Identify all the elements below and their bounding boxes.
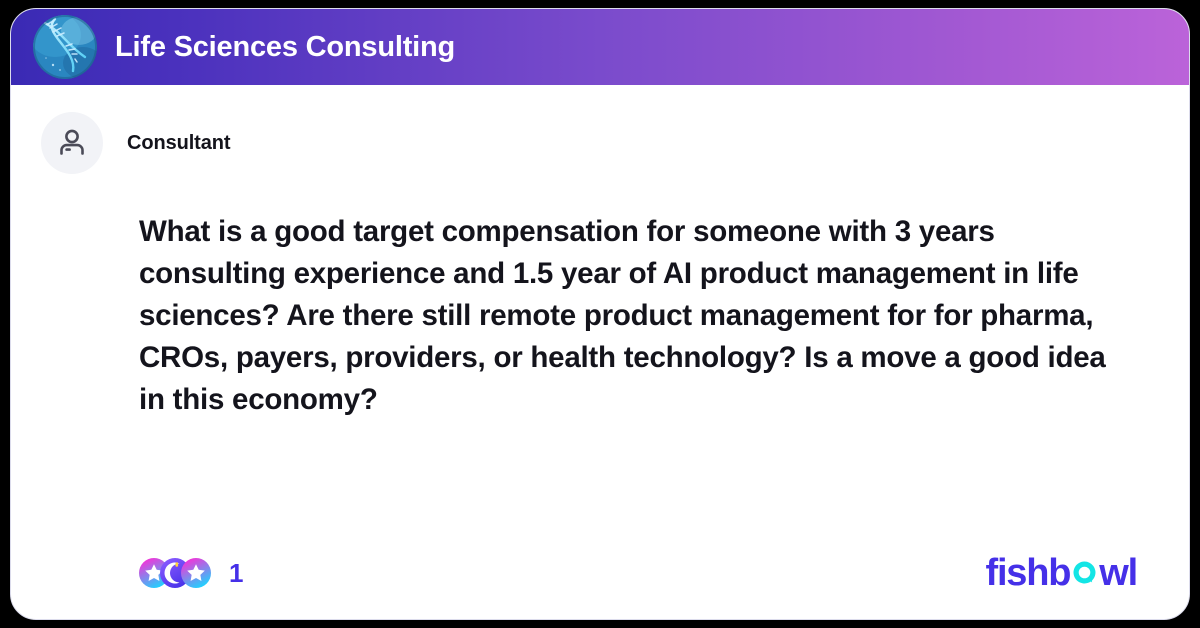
speech-bubble-o-icon — [1071, 559, 1098, 586]
brand-text-part1: fishb — [986, 552, 1071, 595]
author-row: Consultant — [41, 111, 1149, 175]
person-icon — [55, 126, 89, 160]
reaction-count: 1 — [229, 558, 243, 589]
card-header: Life Sciences Consulting — [11, 9, 1189, 85]
fishbowl-brand-logo: fishb wl — [986, 552, 1138, 595]
author-title: Consultant — [127, 132, 230, 155]
reactions-group[interactable]: 1 — [139, 558, 243, 589]
dna-sphere-icon — [33, 15, 97, 79]
star-reaction-icon[interactable] — [181, 558, 211, 588]
card-body: Consultant What is a good target compens… — [11, 85, 1189, 619]
page-title: Life Sciences Consulting — [115, 31, 455, 64]
fishbowl-post-card: Life Sciences Consulting Consultant What… — [10, 8, 1190, 620]
card-footer: 1 fishb wl — [11, 527, 1189, 619]
post-question-text: What is a good target compensation for s… — [139, 211, 1121, 421]
reaction-badge-stack[interactable] — [139, 558, 211, 588]
brand-text-part2: wl — [1099, 552, 1137, 595]
avatar — [41, 112, 103, 174]
